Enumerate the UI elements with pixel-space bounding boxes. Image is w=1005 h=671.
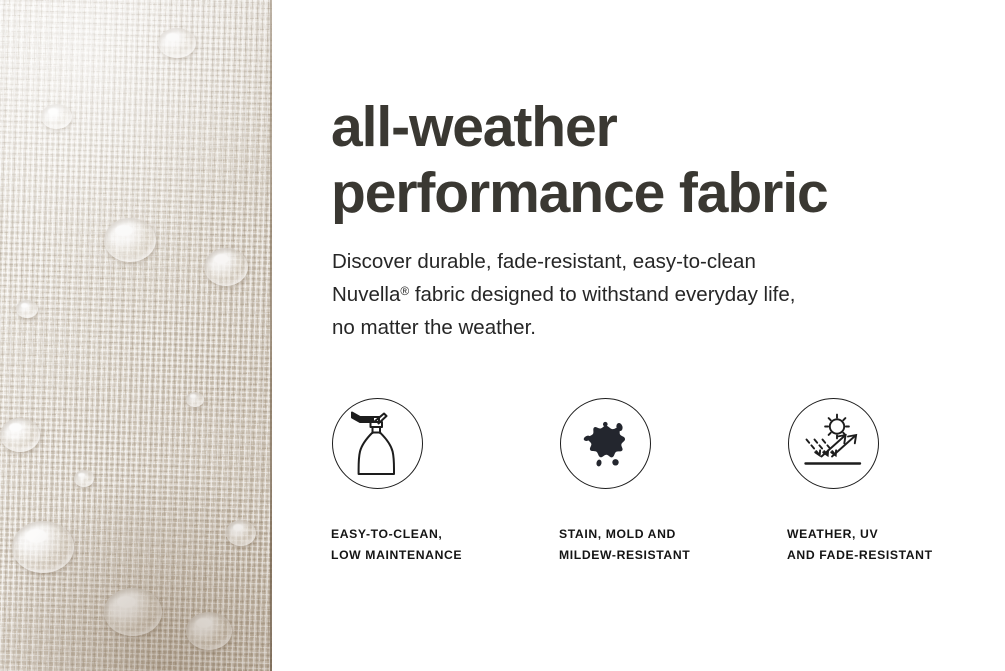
description-line-1: Discover durable, fade-resistant, easy-t… [332, 245, 972, 278]
description-line-2-rest: fabric designed to withstand everyday li… [409, 283, 795, 306]
feature-caption-line-2: MILDEW-RESISTANT [559, 545, 690, 566]
feature-caption: STAIN, MOLD AND MILDEW-RESISTANT [559, 524, 690, 565]
headline-line-1: all-weather [331, 94, 1005, 160]
feature-caption-line-2: AND FADE-RESISTANT [787, 545, 933, 566]
feature-caption-line-1: EASY-TO-CLEAN, [331, 524, 462, 545]
spray-bottle-icon-circle [332, 398, 423, 489]
fabric-lighting-overlay [0, 0, 272, 671]
feature-caption: WEATHER, UV AND FADE-RESISTANT [787, 524, 933, 565]
all-weather-fabric-banner: all-weather performance fabric Discover … [0, 0, 1005, 671]
feature-caption-line-1: WEATHER, UV [787, 524, 933, 545]
feature-list: EASY-TO-CLEAN, LOW MAINTENANCE [330, 398, 1005, 565]
feature-stain-resistant: STAIN, MOLD AND MILDEW-RESISTANT [558, 398, 786, 565]
content-panel: all-weather performance fabric Discover … [272, 0, 1005, 671]
stain-splat-icon-circle [560, 398, 651, 489]
feature-caption-line-2: LOW MAINTENANCE [331, 545, 462, 566]
fabric-photo-panel [0, 0, 272, 671]
description-line-3: no matter the weather. [332, 311, 972, 344]
description-line-2: Nuvella® fabric designed to withstand ev… [332, 278, 972, 311]
feature-caption: EASY-TO-CLEAN, LOW MAINTENANCE [331, 524, 462, 565]
description-text: Discover durable, fade-resistant, easy-t… [332, 245, 972, 344]
feature-weather-resistant: WEATHER, UV AND FADE-RESISTANT [786, 398, 1005, 565]
feature-caption-line-1: STAIN, MOLD AND [559, 524, 690, 545]
brand-name: Nuvella [332, 283, 400, 306]
sun-reflection-icon [801, 412, 867, 476]
headline-line-2: performance fabric [331, 160, 1005, 226]
registered-trademark-mark: ® [400, 284, 409, 298]
stain-splat-icon [574, 412, 638, 476]
spray-bottle-icon [348, 411, 408, 477]
page-title: all-weather performance fabric [331, 94, 1005, 226]
sun-reflection-icon-circle [788, 398, 879, 489]
feature-easy-to-clean: EASY-TO-CLEAN, LOW MAINTENANCE [330, 398, 558, 565]
